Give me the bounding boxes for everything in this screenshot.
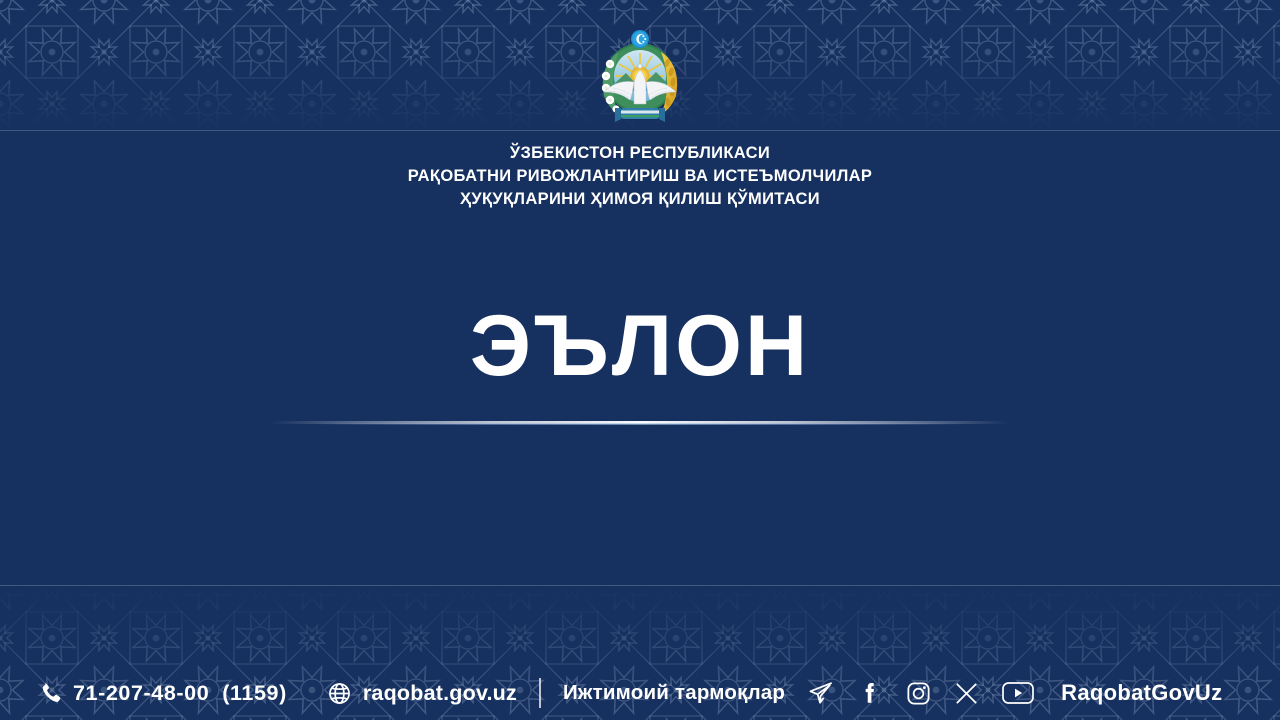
social-icons-group [807,679,1035,707]
phone-number: 71-207-48-00 [73,681,209,706]
organization-line-2: РАҚОБАТНИ РИВОЖЛАНТИРИШ ВА ИСТЕЪМОЛЧИЛАР [0,165,1280,188]
organization-line-1: ЎЗБЕКИСТОН РЕСПУБЛИКАСИ [0,142,1280,165]
x-twitter-icon[interactable] [954,681,979,706]
footer-bar: 71-207-48-00 (1159) raqobat.gov.uz Ижтим… [0,666,1280,720]
uzbekistan-state-emblem [588,26,692,126]
instagram-icon[interactable] [905,680,932,707]
social-networks-label: Ижтимоий тармоқлар [563,681,785,705]
divider-rule-bottom [0,585,1280,586]
website-url: raqobat.gov.uz [363,681,517,706]
social-handle: RaqobatGovUz [1061,680,1222,706]
globe-icon [327,681,352,706]
poster-canvas: ЎЗБЕКИСТОН РЕСПУБЛИКАСИ РАҚОБАТНИ РИВОЖЛ… [0,0,1280,720]
page-title: ЭЪЛОН [0,303,1280,389]
footer-separator [539,678,541,708]
title-divider [270,421,1010,424]
divider-rule-top [0,130,1280,131]
organization-line-3: ҲУҚУҚЛАРИНИ ҲИМОЯ ҚИЛИШ ҚЎМИТАСИ [0,188,1280,211]
facebook-icon[interactable] [857,680,883,706]
phone-extension: (1159) [222,681,287,706]
phone-icon [38,681,62,705]
phone-block[interactable]: 71-207-48-00 (1159) [38,681,287,706]
website-block[interactable]: raqobat.gov.uz [327,681,517,706]
social-label-block: Ижтимоий тармоқлар [563,681,785,705]
emblem-svg [588,26,692,126]
organization-name: ЎЗБЕКИСТОН РЕСПУБЛИКАСИ РАҚОБАТНИ РИВОЖЛ… [0,142,1280,211]
youtube-icon[interactable] [1001,680,1035,706]
telegram-icon[interactable] [807,679,835,707]
